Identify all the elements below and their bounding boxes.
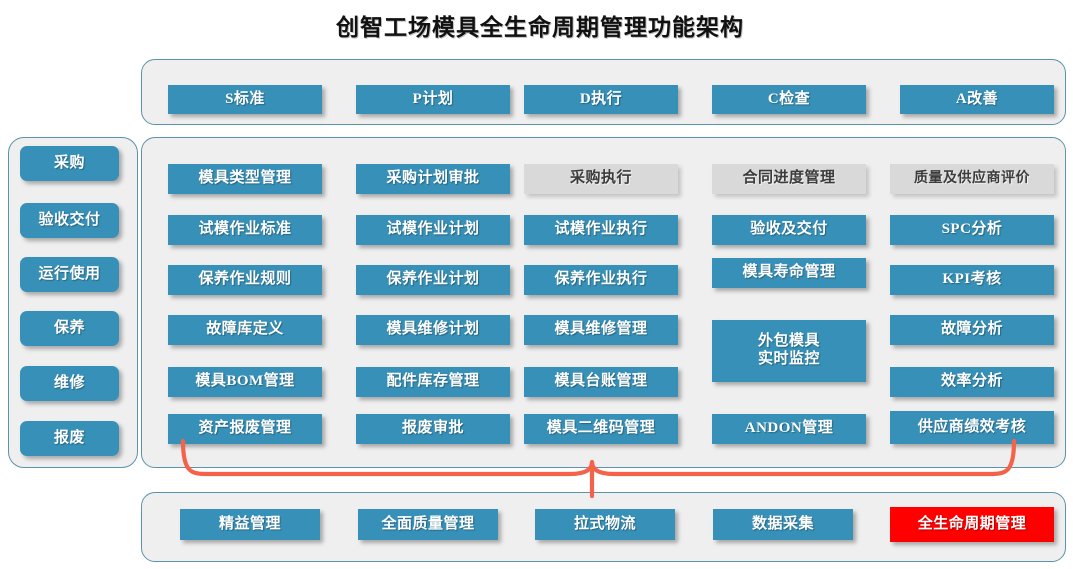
- matrix-cell-acceptance-delivery[interactable]: 验收及交付: [712, 215, 866, 245]
- matrix-cell-trial-mold-execution[interactable]: 试模作业执行: [524, 215, 678, 245]
- matrix-cell-efficiency-analysis[interactable]: 效率分析: [890, 367, 1054, 397]
- matrix-cell-parts-inventory-management[interactable]: 配件库存管理: [356, 367, 510, 397]
- lifecycle-stage-panel: [8, 137, 138, 468]
- matrix-cell-mold-type-management[interactable]: 模具类型管理: [168, 164, 322, 194]
- matrix-cell-quality-supplier-evaluation[interactable]: 质量及供应商评价: [890, 164, 1054, 194]
- matrix-cell-andon-management[interactable]: ANDON管理: [712, 414, 866, 444]
- sidebar-item-operation-usage[interactable]: 运行使用: [20, 257, 119, 292]
- matrix-cell-spc-analysis[interactable]: SPC分析: [890, 215, 1054, 245]
- matrix-cell-mold-bom-management[interactable]: 模具BOM管理: [168, 367, 322, 397]
- sidebar-item-maintenance[interactable]: 保养: [20, 311, 119, 346]
- matrix-cell-contract-progress-management[interactable]: 合同进度管理: [712, 164, 866, 194]
- bottom-item-lean-management[interactable]: 精益管理: [180, 509, 320, 540]
- matrix-cell-mold-ledger-management[interactable]: 模具台账管理: [524, 367, 678, 397]
- bottom-item-full-lifecycle-management[interactable]: 全生命周期管理: [890, 507, 1054, 542]
- matrix-cell-trial-mold-plan[interactable]: 试模作业计划: [356, 215, 510, 245]
- top-item-c-check[interactable]: C检查: [712, 85, 866, 114]
- sidebar-item-repair[interactable]: 维修: [20, 366, 119, 401]
- matrix-cell-purchase-execution[interactable]: 采购执行: [524, 164, 678, 194]
- matrix-cell-maintenance-rule[interactable]: 保养作业规则: [168, 265, 322, 295]
- matrix-cell-supplier-performance-assessment[interactable]: 供应商绩效考核: [890, 411, 1054, 444]
- bottom-item-total-quality-management[interactable]: 全面质量管理: [358, 509, 498, 540]
- top-item-p-plan[interactable]: P计划: [356, 85, 510, 114]
- matrix-cell-kpi-assessment[interactable]: KPI考核: [890, 265, 1054, 295]
- bottom-item-data-acquisition[interactable]: 数据采集: [713, 509, 853, 540]
- page-title: 创智工场模具全生命周期管理功能架构: [0, 8, 1080, 42]
- top-item-d-do[interactable]: D执行: [524, 85, 678, 114]
- matrix-cell-purchase-plan-approval[interactable]: 采购计划审批: [356, 164, 510, 194]
- matrix-cell-outsourced-mold-realtime-monitoring[interactable]: 外包模具 实时监控: [712, 320, 866, 382]
- matrix-cell-mold-repair-management[interactable]: 模具维修管理: [524, 315, 678, 345]
- top-item-s-standard[interactable]: S标准: [168, 85, 322, 114]
- matrix-cell-mold-repair-plan[interactable]: 模具维修计划: [356, 315, 510, 345]
- matrix-cell-trial-mold-standard[interactable]: 试模作业标准: [168, 215, 322, 245]
- bottom-item-pull-logistics[interactable]: 拉式物流: [535, 509, 675, 540]
- matrix-cell-asset-scrap-management[interactable]: 资产报废管理: [168, 414, 322, 444]
- matrix-cell-mold-qrcode-management[interactable]: 模具二维码管理: [524, 414, 678, 444]
- top-item-a-act[interactable]: A改善: [900, 85, 1054, 114]
- sidebar-item-scrap[interactable]: 报废: [20, 421, 119, 456]
- sidebar-item-procurement[interactable]: 采购: [20, 146, 119, 181]
- matrix-cell-scrap-approval[interactable]: 报废审批: [356, 414, 510, 444]
- matrix-cell-fault-library-definition[interactable]: 故障库定义: [168, 315, 322, 345]
- matrix-cell-mold-life-management[interactable]: 模具寿命管理: [712, 258, 866, 288]
- matrix-cell-maintenance-plan[interactable]: 保养作业计划: [356, 265, 510, 295]
- sidebar-item-acceptance-delivery[interactable]: 验收交付: [20, 203, 119, 238]
- matrix-cell-maintenance-execution[interactable]: 保养作业执行: [524, 265, 678, 295]
- matrix-cell-fault-analysis[interactable]: 故障分析: [890, 315, 1054, 345]
